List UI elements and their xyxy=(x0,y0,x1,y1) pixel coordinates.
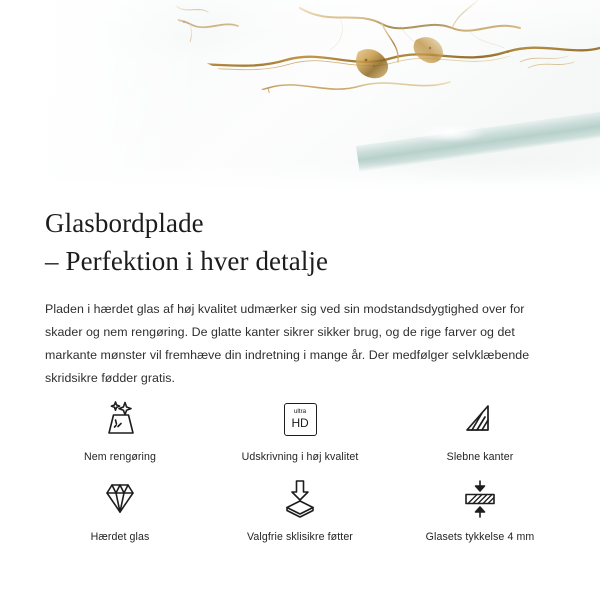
sparkle-tabletop-icon xyxy=(97,398,143,440)
hero-top-fade xyxy=(0,0,600,40)
page-title: Glasbordplade – Perfektion i hver detalj… xyxy=(0,196,600,280)
thickness-arrows-icon xyxy=(459,478,501,520)
hero-bottom-fade xyxy=(0,162,600,196)
hero-product-image xyxy=(0,0,600,196)
beveled-edge-icon xyxy=(460,398,500,440)
feature-label: Hærdet glas xyxy=(91,530,150,544)
ultra-hd-badge-bottom: HD xyxy=(292,417,309,429)
ultra-hd-badge-top: ultra xyxy=(294,409,306,416)
ultra-hd-icon: ultra HD xyxy=(284,398,317,440)
feature-item-thickness: Glasets tykkelse 4 mm xyxy=(390,478,570,544)
ultra-hd-badge: ultra HD xyxy=(284,403,317,436)
product-description-page: Glasbordplade – Perfektion i hver detalj… xyxy=(0,0,600,600)
feature-label: Nem rengøring xyxy=(84,450,156,464)
feature-grid: Nem rengøring ultra HD Udskrivning i høj… xyxy=(0,398,600,544)
feature-label: Valgfrie sklisikre føtter xyxy=(247,530,353,544)
edge-specular-highlight xyxy=(416,124,486,142)
feature-item-hd-print: ultra HD Udskrivning i høj kvalitet xyxy=(210,398,390,464)
feature-item-polished-edges: Slebne kanter xyxy=(390,398,570,464)
feature-label: Slebne kanter xyxy=(447,450,514,464)
feature-item-antislip-feet: Valgfrie sklisikre føtter xyxy=(210,478,390,544)
diamond-icon xyxy=(99,478,141,520)
anti-slip-foot-icon xyxy=(279,478,321,520)
feature-label: Glasets tykkelse 4 mm xyxy=(426,530,535,544)
feature-label: Udskrivning i høj kvalitet xyxy=(242,450,359,464)
page-title-line-2: – Perfektion i hver detalje xyxy=(45,242,555,280)
page-title-line-1: Glasbordplade xyxy=(45,208,204,238)
feature-item-tempered-glass: Hærdet glas xyxy=(30,478,210,544)
product-copy: Glasbordplade – Perfektion i hver detalj… xyxy=(0,196,600,390)
product-description-text: Pladen i hærdet glas af høj kvalitet udm… xyxy=(0,280,600,390)
feature-item-easy-cleaning: Nem rengøring xyxy=(30,398,210,464)
